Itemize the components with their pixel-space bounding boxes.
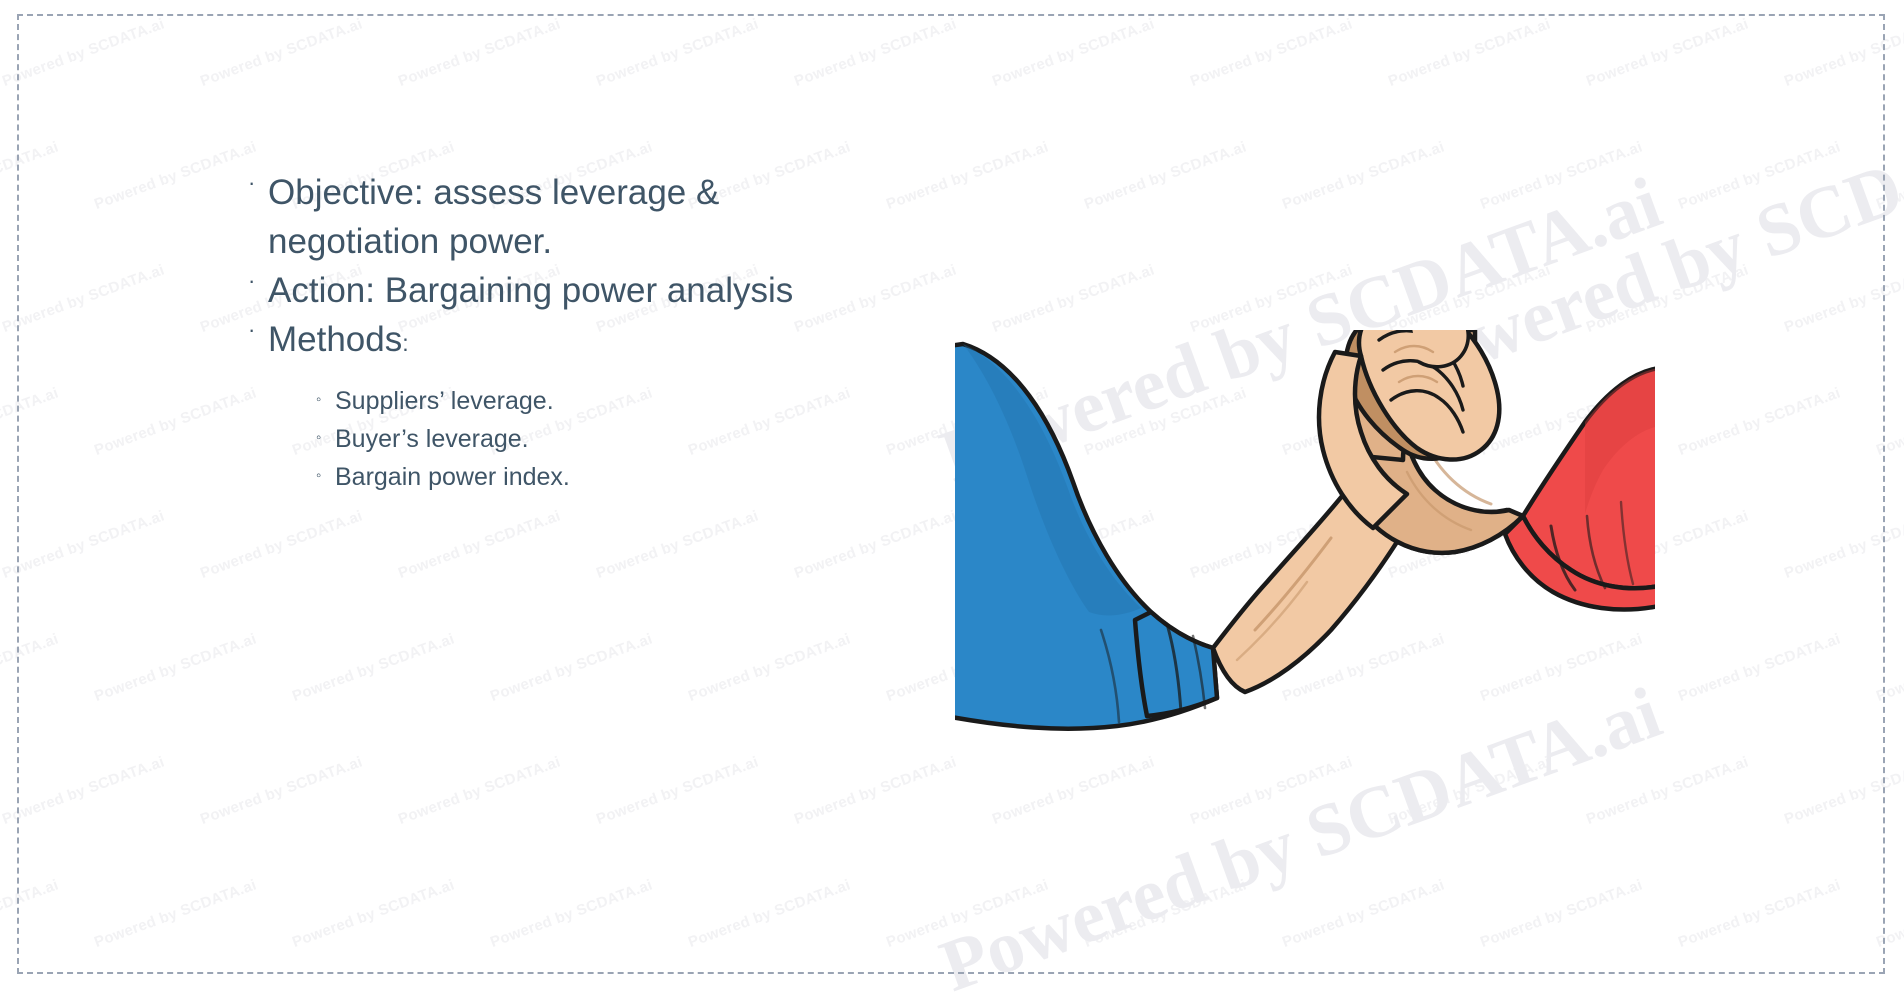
methods-label: Methods <box>268 320 402 359</box>
watermark-small-text: Powered by SCDATA.ai <box>1874 384 1904 459</box>
watermark-small-text: Powered by SCDATA.ai <box>290 876 457 951</box>
watermark-small-text: Powered by SCDATA.ai <box>0 384 61 459</box>
watermark-small-text: Powered by SCDATA.ai <box>1386 261 1553 336</box>
watermark-small-text: Powered by SCDATA.ai <box>198 753 365 828</box>
sub-bullet-item-bargain-power-index: ◦ Bargain power index. <box>316 458 888 496</box>
slide-canvas: Powered by SCDATA.aiPowered by SCDATA.ai… <box>0 0 1904 993</box>
bullet-text: Action: Bargaining power analysis <box>268 266 888 315</box>
watermark-small-text: Powered by SCDATA.ai <box>0 753 167 828</box>
sub-bullet-marker-icon: ◦ <box>316 458 335 494</box>
watermark-small-text: Powered by SCDATA.ai <box>1584 15 1751 90</box>
watermark-small-text: Powered by SCDATA.ai <box>92 630 259 705</box>
watermark-small-text: Powered by SCDATA.ai <box>1386 15 1553 90</box>
watermark-small-text: Powered by SCDATA.ai <box>594 507 761 582</box>
sub-bullet-item-buyers-leverage: ◦ Buyer’s leverage. <box>316 420 888 458</box>
watermark-small-text: Powered by SCDATA.ai <box>792 753 959 828</box>
watermark-small-text: Powered by SCDATA.ai <box>990 753 1157 828</box>
watermark-small-text: Powered by SCDATA.ai <box>0 138 61 213</box>
bullet-line-1: Objective: assess leverage & <box>268 168 888 217</box>
watermark-small-text: Powered by SCDATA.ai <box>1188 15 1355 90</box>
watermark-small-text: Powered by SCDATA.ai <box>1782 507 1904 582</box>
bullet-item-objective: · Objective: assess leverage & negotiati… <box>248 168 888 266</box>
watermark-small-text: Powered by SCDATA.ai <box>0 15 167 90</box>
bullet-marker-icon: · <box>248 315 268 345</box>
bullet-marker-icon: · <box>248 168 268 198</box>
watermark-small-text: Powered by SCDATA.ai <box>198 507 365 582</box>
arm-wrestling-illustration <box>955 330 1655 760</box>
watermark-small-text: Powered by SCDATA.ai <box>884 876 1051 951</box>
watermark-small-text: Powered by SCDATA.ai <box>290 630 457 705</box>
watermark-small-text: Powered by SCDATA.ai <box>686 876 853 951</box>
bullet-text: Methods: <box>268 315 888 368</box>
watermark-small-text: Powered by SCDATA.ai <box>396 15 563 90</box>
watermark-small-text: Powered by SCDATA.ai <box>92 876 259 951</box>
watermark-small-text: Powered by SCDATA.ai <box>792 507 959 582</box>
watermark-small-text: Powered by SCDATA.ai <box>488 630 655 705</box>
watermark-small-text: Powered by SCDATA.ai <box>1280 138 1447 213</box>
sub-bullet-list: ◦ Suppliers’ leverage. ◦ Buyer’s leverag… <box>248 382 888 496</box>
watermark-small-text: Powered by SCDATA.ai <box>1478 138 1645 213</box>
sub-bullet-marker-icon: ◦ <box>316 382 335 418</box>
sub-bullet-item-suppliers-leverage: ◦ Suppliers’ leverage. <box>316 382 888 420</box>
sub-bullet-text: Bargain power index. <box>335 458 570 496</box>
watermark-small-text: Powered by SCDATA.ai <box>0 261 167 336</box>
watermark-small-text: Powered by SCDATA.ai <box>1676 630 1843 705</box>
watermark-small-text: Powered by SCDATA.ai <box>92 384 259 459</box>
methods-colon: : <box>402 330 408 356</box>
bullet-list: · Objective: assess leverage & negotiati… <box>248 168 888 496</box>
watermark-small-text: Powered by SCDATA.ai <box>594 15 761 90</box>
watermark-small-text: Powered by SCDATA.ai <box>686 630 853 705</box>
sub-bullet-text: Suppliers’ leverage. <box>335 382 554 420</box>
watermark-small-text: Powered by SCDATA.ai <box>1478 876 1645 951</box>
bullet-marker-icon: · <box>248 266 268 296</box>
watermark-small-text: Powered by SCDATA.ai <box>1676 384 1843 459</box>
watermark-small-text: Powered by SCDATA.ai <box>1874 876 1904 951</box>
watermark-small-text: Powered by SCDATA.ai <box>0 630 61 705</box>
watermark-small-text: Powered by SCDATA.ai <box>1676 138 1843 213</box>
sub-bullet-marker-icon: ◦ <box>316 420 335 456</box>
watermark-small-text: Powered by SCDATA.ai <box>1584 261 1751 336</box>
watermark-small-text: Powered by SCDATA.ai <box>1874 138 1904 213</box>
bullet-item-action: · Action: Bargaining power analysis <box>248 266 888 315</box>
watermark-small-text: Powered by SCDATA.ai <box>396 507 563 582</box>
bullet-item-methods: · Methods: <box>248 315 888 368</box>
watermark-small-text: Powered by SCDATA.ai <box>488 876 655 951</box>
sub-bullet-text: Buyer’s leverage. <box>335 420 529 458</box>
bullet-line-1: Methods: <box>268 315 888 368</box>
watermark-small-text: Powered by SCDATA.ai <box>396 753 563 828</box>
watermark-small-text: Powered by SCDATA.ai <box>1188 261 1355 336</box>
bullet-text: Objective: assess leverage & negotiation… <box>268 168 888 266</box>
watermark-small-text: Powered by SCDATA.ai <box>1082 138 1249 213</box>
watermark-small-text: Powered by SCDATA.ai <box>792 15 959 90</box>
watermark-small-text: Powered by SCDATA.ai <box>990 15 1157 90</box>
watermark-small-text: Powered by SCDATA.ai <box>1280 876 1447 951</box>
bullet-line-1: Action: Bargaining power analysis <box>268 266 888 315</box>
watermark-small-text: Powered by SCDATA.ai <box>1082 876 1249 951</box>
watermark-small-text: Powered by SCDATA.ai <box>1782 261 1904 336</box>
watermark-small-text: Powered by SCDATA.ai <box>594 753 761 828</box>
watermark-small-text: Powered by SCDATA.ai <box>1188 753 1355 828</box>
watermark-small-text: Powered by SCDATA.ai <box>92 138 259 213</box>
watermark-small-text: Powered by SCDATA.ai <box>1584 753 1751 828</box>
watermark-small-text: Powered by SCDATA.ai <box>1386 753 1553 828</box>
watermark-small-text: Powered by SCDATA.ai <box>1676 876 1843 951</box>
watermark-small-text: Powered by SCDATA.ai <box>0 507 167 582</box>
watermark-small-text: Powered by SCDATA.ai <box>1782 15 1904 90</box>
watermark-small-text: Powered by SCDATA.ai <box>1874 630 1904 705</box>
watermark-small-text: Powered by SCDATA.ai <box>990 261 1157 336</box>
watermark-small-text: Powered by SCDATA.ai <box>884 138 1051 213</box>
watermark-small-text: Powered by SCDATA.ai <box>1782 753 1904 828</box>
watermark-small-text: Powered by SCDATA.ai <box>0 876 61 951</box>
watermark-small-text: Powered by SCDATA.ai <box>198 15 365 90</box>
bullet-line-2: negotiation power. <box>268 217 888 266</box>
